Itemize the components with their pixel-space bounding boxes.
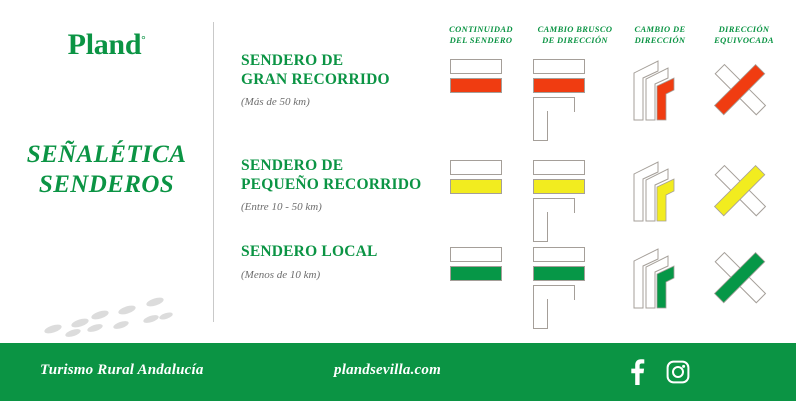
- trail-mark-pequeno-recorrido-cambio-direccion: [630, 160, 686, 222]
- column-header-line1: DIRECCIÓN: [697, 24, 791, 35]
- brand-logo-text: Pland: [68, 28, 142, 61]
- trail-mark-pequeno-recorrido-direccion-equivocada: [707, 160, 773, 222]
- senderos-signage-infographic: Pland° SEÑALÉTICA SENDEROS CONTINUIDAD D: [0, 0, 796, 401]
- trail-mark-gran-recorrido-continuidad: [450, 59, 504, 95]
- footer-bar: Turismo Rural Andalucía plandsevilla.com: [0, 343, 796, 401]
- trail-bend-color: [657, 266, 674, 308]
- trail-mark-pequeno-recorrido-continuidad: [450, 160, 504, 196]
- footer-website-link[interactable]: plandsevilla.com: [334, 362, 441, 379]
- column-header-cambio-direccion: CAMBIO DE DIRECCIÓN: [623, 24, 697, 47]
- trail-bar-color: [450, 78, 502, 93]
- trail-mark-gran-recorrido-cambio-direccion: [630, 59, 686, 121]
- trail-corner-white: [533, 198, 575, 242]
- trail-bar-white: [533, 160, 585, 175]
- column-header-line1: CAMBIO BRUSCO: [527, 24, 623, 35]
- trail-bar-color: [450, 179, 502, 194]
- footprints-decoration: [35, 288, 195, 338]
- column-header-line1: CONTINUIDAD: [437, 24, 525, 35]
- trail-mark-local-direccion-equivocada: [707, 247, 773, 309]
- trail-bend-symbol: [630, 59, 686, 121]
- column-header-line2: DE DIRECCIÓN: [527, 35, 623, 46]
- row-title-line2: GRAN RECORRIDO: [241, 71, 436, 90]
- trail-bend-color: [657, 78, 674, 120]
- trail-cross-symbol: [707, 160, 773, 222]
- row-subtitle: (Entre 10 - 50 km): [241, 201, 436, 213]
- brand-logo: Pland°: [0, 28, 213, 62]
- trail-bend-color: [657, 179, 674, 221]
- trail-mark-gran-recorrido-cambio-brusco: [533, 59, 589, 143]
- trail-bar-white: [450, 160, 502, 175]
- column-header-line2: DEL SENDERO: [437, 35, 525, 46]
- instagram-icon[interactable]: [666, 360, 690, 384]
- trail-mark-local-continuidad: [450, 247, 504, 283]
- trail-mark-pequeno-recorrido-cambio-brusco: [533, 160, 589, 244]
- page-title: SEÑALÉTICA SENDEROS: [0, 140, 213, 199]
- trail-bar-white: [450, 59, 502, 74]
- column-header-direccion-equivocada: DIRECCIÓN EQUIVOCADA: [697, 24, 791, 47]
- left-panel: Pland° SEÑALÉTICA SENDEROS: [0, 0, 213, 340]
- footer-tagline: Turismo Rural Andalucía: [40, 362, 204, 379]
- trail-bend-symbol: [630, 160, 686, 222]
- vertical-divider: [213, 22, 214, 322]
- row-title-line1: SENDERO DE: [241, 157, 436, 176]
- trail-corner-white: [533, 97, 575, 141]
- column-header-line2: DIRECCIÓN: [623, 35, 697, 46]
- row-title-line1: SENDERO LOCAL: [241, 243, 436, 262]
- trail-bar-color: [533, 266, 585, 281]
- trail-bar-white: [533, 59, 585, 74]
- trail-cross-symbol: [707, 59, 773, 121]
- trail-bar-color: [533, 179, 585, 194]
- column-header-continuidad: CONTINUIDAD DEL SENDERO: [437, 24, 525, 47]
- page-title-line2: SENDEROS: [0, 170, 213, 200]
- row-label-gran-recorrido: SENDERO DE GRAN RECORRIDO (Más de 50 km): [241, 52, 436, 108]
- trail-bend-symbol: [630, 247, 686, 309]
- trail-bar-color: [533, 78, 585, 93]
- trail-mark-local-cambio-direccion: [630, 247, 686, 309]
- column-header-line1: CAMBIO DE: [623, 24, 697, 35]
- page-title-line1: SEÑALÉTICA: [0, 140, 213, 170]
- column-header-cambio-brusco: CAMBIO BRUSCO DE DIRECCIÓN: [527, 24, 623, 47]
- trail-bar-white: [450, 247, 502, 262]
- trail-corner-white: [533, 285, 575, 329]
- trail-bar-color: [450, 266, 502, 281]
- row-title-line1: SENDERO DE: [241, 52, 436, 71]
- brand-logo-mark: °: [141, 34, 145, 46]
- column-header-line2: EQUIVOCADA: [697, 35, 791, 46]
- facebook-icon[interactable]: [626, 359, 648, 385]
- row-subtitle: (Más de 50 km): [241, 96, 436, 108]
- trail-mark-gran-recorrido-direccion-equivocada: [707, 59, 773, 121]
- trail-mark-local-cambio-brusco: [533, 247, 589, 331]
- row-title-line2: PEQUEÑO RECORRIDO: [241, 176, 436, 195]
- trail-bar-white: [533, 247, 585, 262]
- row-label-local: SENDERO LOCAL (Menos de 10 km): [241, 243, 436, 281]
- row-subtitle: (Menos de 10 km): [241, 269, 436, 281]
- trail-cross-symbol: [707, 247, 773, 309]
- row-label-pequeno-recorrido: SENDERO DE PEQUEÑO RECORRIDO (Entre 10 -…: [241, 157, 436, 213]
